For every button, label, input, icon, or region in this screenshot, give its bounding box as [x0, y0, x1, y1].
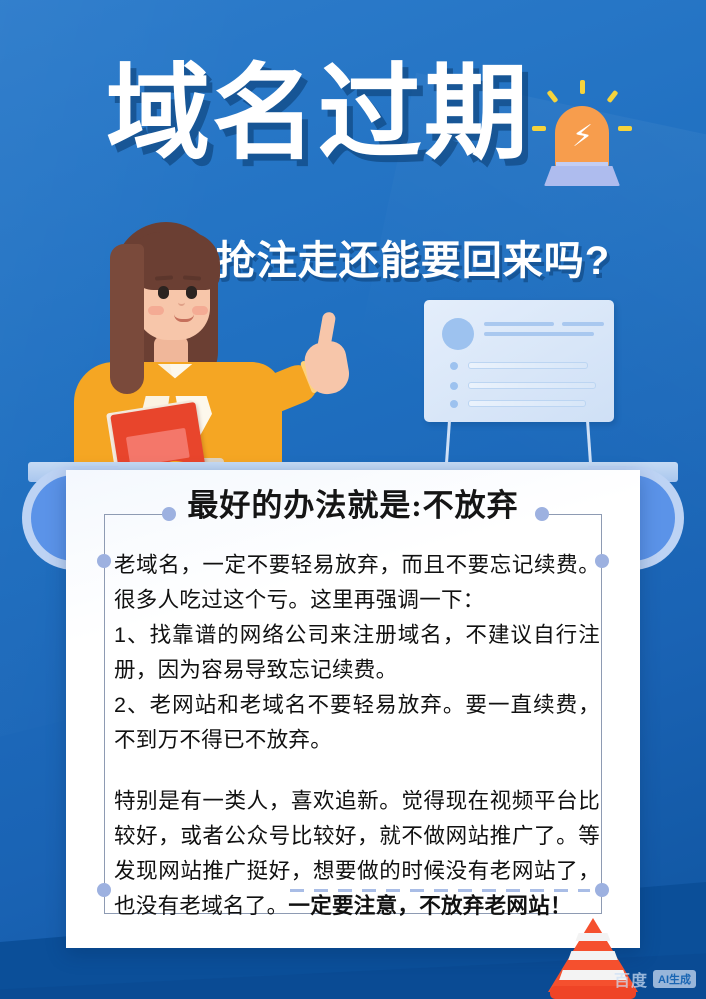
hair-side — [110, 244, 144, 394]
board-panel — [424, 300, 614, 422]
paragraph-item-1: 1、找靠谱的网络公司来注册域名，不建议自行注册，因为容易导致忘记续费。 — [114, 618, 600, 688]
board-bar — [468, 382, 596, 389]
siren-ray — [607, 90, 619, 103]
board-bar — [468, 362, 588, 369]
eye-right — [186, 286, 197, 299]
watermark-brand: 百度 — [614, 967, 648, 991]
cone-stripe — [566, 951, 620, 960]
siren-base — [544, 166, 620, 186]
bracket-line-right — [540, 514, 602, 515]
alarm-siren-icon: ⚡ — [528, 78, 636, 196]
eye-left — [158, 286, 169, 299]
paragraph-item-2: 2、老网站和老域名不要轻易放弃。要一直续费，不到万不得已不放弃。 — [114, 688, 600, 758]
board-line — [484, 332, 594, 336]
closing-emphasis: 一定要注意，不放弃老网站！ — [288, 894, 571, 918]
woman-pointing-illustration — [62, 214, 362, 480]
watermark-badge: AI生成 — [653, 970, 696, 988]
blush-right — [192, 306, 208, 315]
board-line — [562, 322, 604, 326]
siren-ray — [532, 126, 546, 131]
paragraph-intro: 老域名，一定不要轻易放弃，而且不要忘记续费。很多人吃过这个亏。这里再强调一下： — [114, 548, 600, 618]
poster-root: 域名过期 ⚡ 抢注走还能要回来吗? — [0, 0, 706, 999]
bracket-dot — [97, 883, 111, 897]
card-body-text: 老域名，一定不要轻易放弃，而且不要忘记续费。很多人吃过这个亏。这里再强调一下： … — [114, 548, 600, 924]
siren-ray — [618, 126, 632, 131]
bracket-dot — [162, 507, 176, 521]
board-line — [484, 322, 554, 326]
cone-stripe — [574, 933, 612, 941]
siren-ray — [580, 80, 585, 94]
board-bar — [468, 400, 586, 407]
bracket-dot — [97, 554, 111, 568]
board-avatar-placeholder — [442, 318, 474, 350]
content-card: 最好的办法就是:不放弃 老域名，一定不要轻易放弃，而且不要忘记续费。很多人吃过这… — [66, 470, 640, 948]
board-bullet — [450, 382, 458, 390]
presentation-board — [424, 300, 614, 480]
blush-left — [148, 306, 164, 315]
board-bullet — [450, 362, 458, 370]
siren-ray — [547, 90, 559, 103]
bracket-line-left — [104, 514, 166, 515]
lightning-bolt-icon: ⚡ — [572, 122, 592, 156]
watermark: 百度 AI生成 — [614, 967, 696, 991]
board-bullet — [450, 400, 458, 408]
bracket-dot — [535, 507, 549, 521]
paragraph-closing: 特别是有一类人，喜欢追新。觉得现在视频平台比较好，或者公众号比较好，就不做网站推… — [114, 784, 600, 924]
